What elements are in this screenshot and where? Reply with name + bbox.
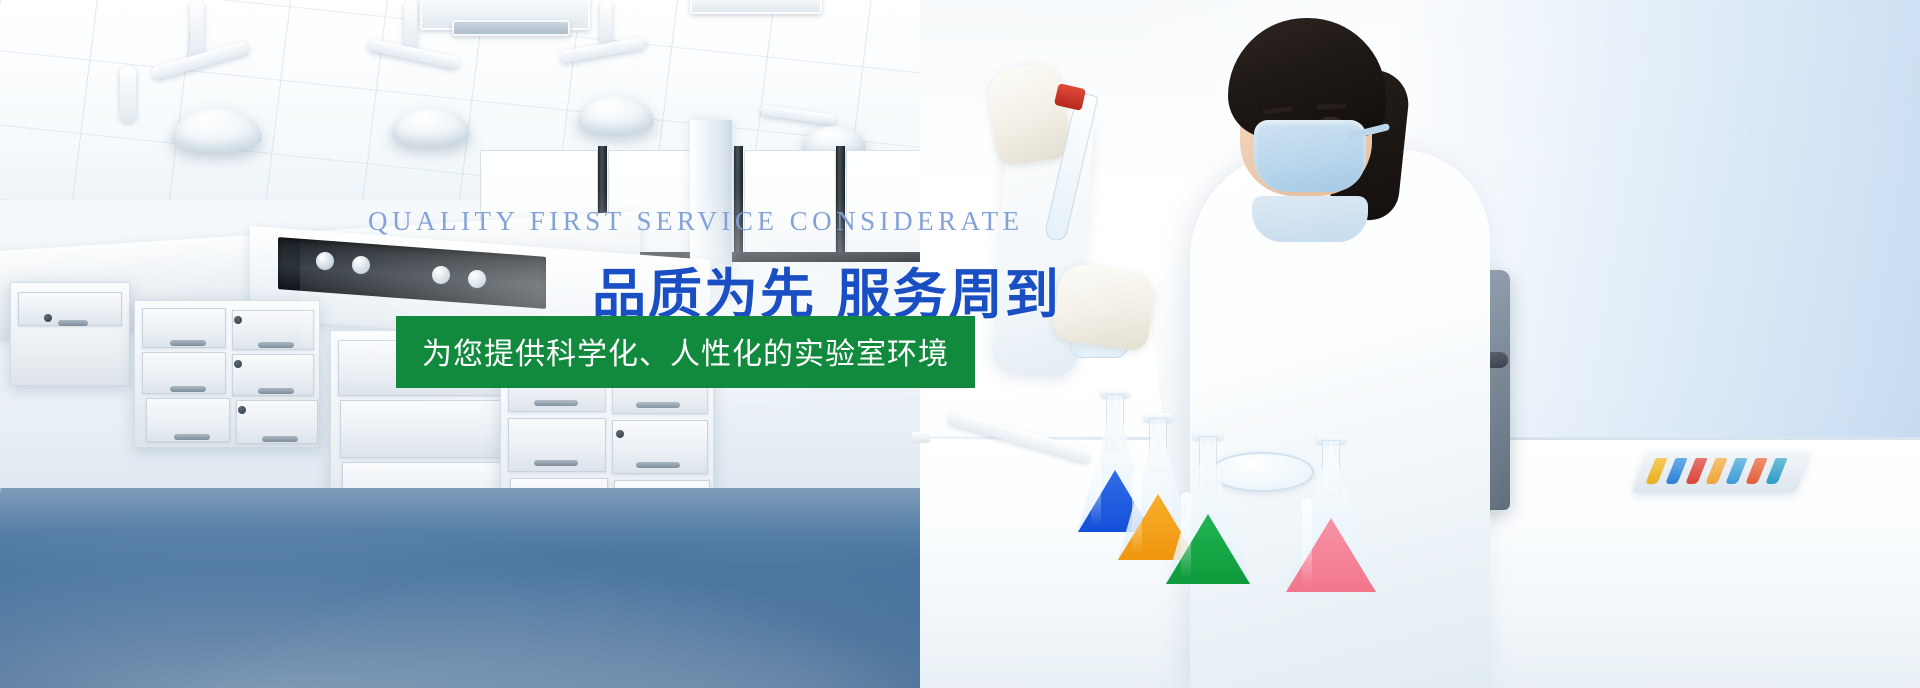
hero-banner: QUALITY FIRST SERVICE CONSIDERATE 品质为先 服… (0, 0, 1920, 688)
banner-eyebrow-english: QUALITY FIRST SERVICE CONSIDERATE (368, 206, 1024, 237)
banner-subtitle-bar: 为您提供科学化、人性化的实验室环境 (396, 316, 975, 388)
banner-copy-block: QUALITY FIRST SERVICE CONSIDERATE 品质为先 服… (0, 0, 1920, 688)
banner-subtitle-text: 为您提供科学化、人性化的实验室环境 (422, 337, 949, 372)
